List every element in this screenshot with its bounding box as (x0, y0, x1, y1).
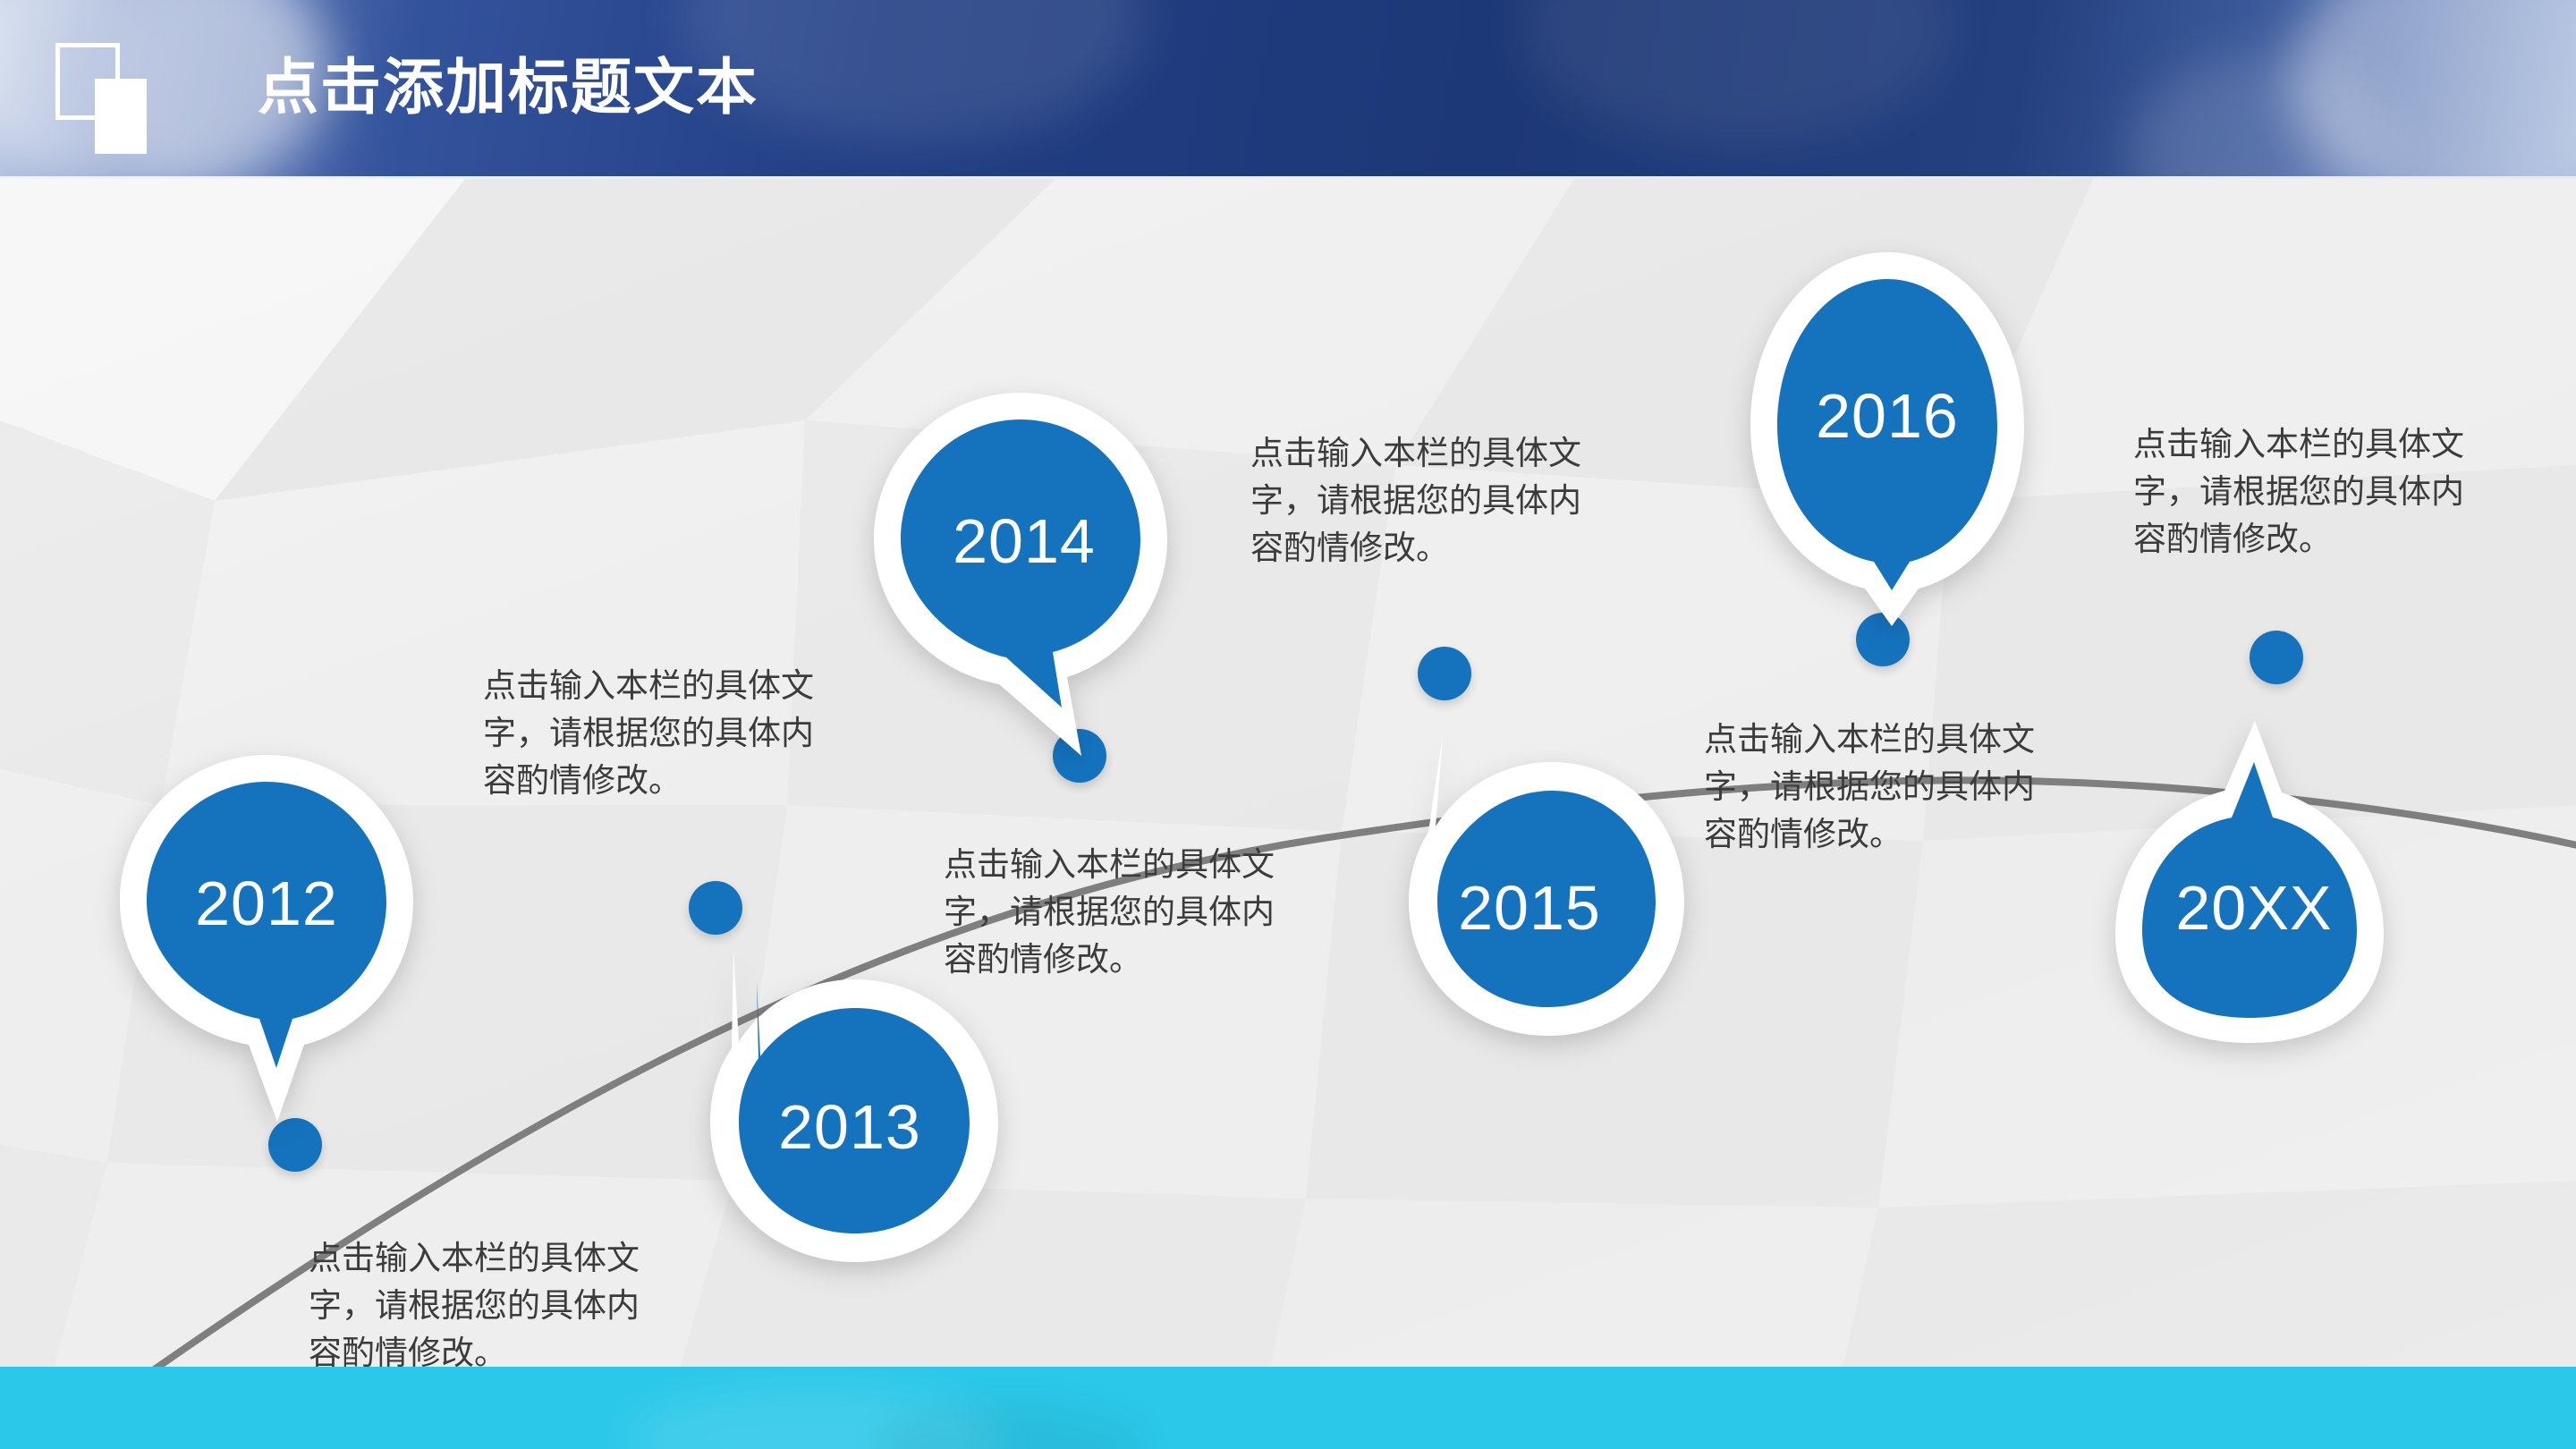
logo-filled-square (95, 79, 147, 154)
timeline-dot-2015[interactable] (1418, 647, 1471, 700)
milestone-year-2013: 2013 (680, 1091, 1020, 1163)
cloud-texture (1521, 0, 1950, 143)
bubble-shape-2012 (106, 742, 428, 1136)
slide-canvas: 点击添加标题文本 2012 2013 2014 (0, 0, 2576, 1449)
milestone-description-2012: 点击输入本栏的具体文字，请根据您的具体内容酌情修改。 (309, 1234, 657, 1377)
milestone-year-2014: 2014 (863, 505, 1185, 577)
footer-band (0, 1367, 2576, 1449)
milestone-bubble-2013[interactable]: 2013 (680, 935, 1020, 1275)
milestone-bubble-2012[interactable]: 2012 (106, 742, 428, 1136)
milestone-bubble-2016[interactable]: 2016 (1740, 241, 2035, 635)
milestone-year-2015: 2015 (1364, 872, 1695, 944)
header-bar: 点击添加标题文本 (0, 0, 2576, 176)
milestone-description-20xx: 点击输入本栏的具体文字，请根据您的具体内容酌情修改。 (2133, 420, 2482, 563)
timeline-dot-20xx[interactable] (2250, 631, 2303, 684)
double-square-logo-icon (55, 43, 156, 157)
milestone-year-20xx: 20XX (2080, 872, 2428, 944)
timeline-dot-2013[interactable] (689, 881, 742, 935)
milestone-bubble-20xx[interactable]: 20XX (2080, 707, 2428, 1055)
milestone-description-2013: 点击输入本栏的具体文字，请根据您的具体内容酌情修改。 (944, 841, 1292, 983)
milestone-description-2016: 点击输入本栏的具体文字，请根据您的具体内容酌情修改。 (1704, 716, 2053, 858)
milestone-year-2016: 2016 (1740, 380, 2035, 452)
milestone-description-2014: 点击输入本栏的具体文字，请根据您的具体内容酌情修改。 (483, 662, 832, 804)
milestone-year-2012: 2012 (106, 868, 428, 939)
bubble-shape-2014 (863, 380, 1185, 774)
milestone-description-2015: 点击输入本栏的具体文字，请根据您的具体内容酌情修改。 (1250, 429, 1599, 572)
milestone-bubble-2015[interactable]: 2015 (1364, 716, 1695, 1051)
page-title: 点击添加标题文本 (258, 47, 758, 129)
milestone-bubble-2014[interactable]: 2014 (863, 380, 1185, 774)
